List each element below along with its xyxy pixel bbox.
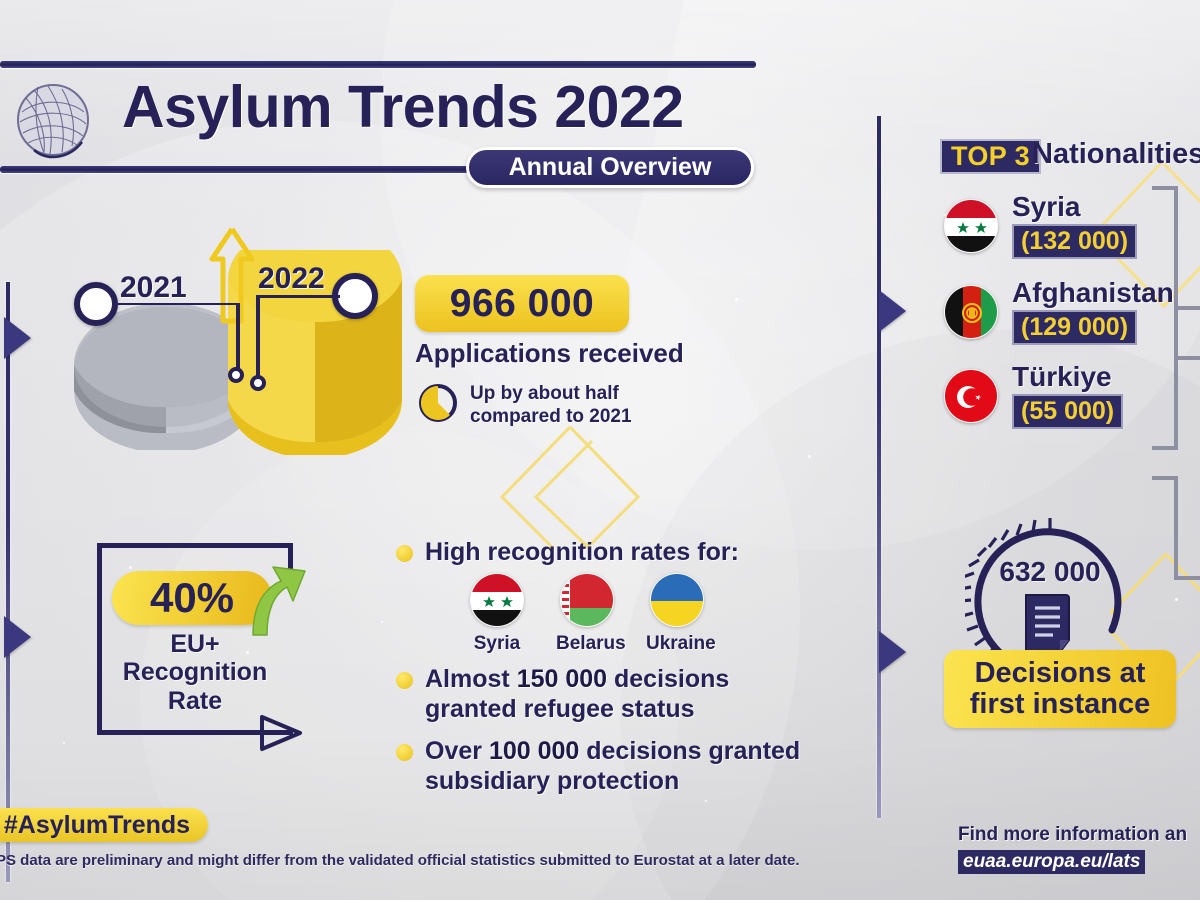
flag-item-ukraine: Ukraine (646, 573, 708, 655)
nationality-text-turkiye: Türkiye (55 000) (1012, 362, 1123, 429)
refugee-line2: granted refugee status (425, 695, 695, 723)
bullet-dot-icon (396, 545, 413, 562)
flag-caption-ukraine: Ukraine (646, 633, 708, 655)
document-icon (1022, 592, 1078, 656)
refugee-number: 150 000 (517, 665, 607, 693)
nationality-row-afghanistan: Afghanistan (129 000) (944, 278, 1174, 345)
recognition-label-line3: Rate (95, 687, 295, 715)
sparkle-dot (63, 742, 65, 744)
euaa-url-link[interactable]: euaa.europa.eu/lats (958, 850, 1145, 874)
leader-line-2022 (252, 295, 342, 405)
applications-value-pill: 966 000 (415, 275, 629, 332)
year-label-2021: 2021 (120, 271, 187, 305)
leader-dot-2022 (250, 375, 266, 391)
flag-syria-icon (944, 199, 998, 253)
center-divider-rail (877, 116, 881, 818)
sparkle-dot (735, 298, 738, 301)
nationality-text-syria: Syria (132 000) (1012, 192, 1137, 259)
high-recognition-flag-row: Syria Belarus Ukraine (466, 573, 708, 655)
subsidiary-line2: subsidiary protection (425, 767, 679, 795)
subsidiary-post: decisions granted (579, 737, 800, 765)
bullet-dot-icon (396, 672, 413, 689)
top3-badge: TOP 3 (940, 139, 1041, 174)
globe-sketch-icon (14, 76, 92, 172)
bracket-connector (1150, 178, 1200, 598)
applications-note: Up by about half compared to 2021 (470, 382, 632, 428)
find-more-text: Find more information an (958, 824, 1187, 846)
footnote-text: EPS data are preliminary and might diffe… (0, 852, 800, 869)
recognition-rate-label: EU+ Recognition Rate (95, 630, 295, 715)
bullet-subsidiary-text: Over 100 000 decisions granted subsidiar… (425, 736, 800, 796)
nationality-row-turkiye: Türkiye (55 000) (944, 362, 1123, 429)
annual-overview-badge: Annual Overview (466, 147, 754, 188)
flag-item-belarus: Belarus (556, 573, 618, 655)
recognition-label-line2: Recognition (95, 658, 295, 686)
nationality-count: (132 000) (1012, 224, 1137, 259)
bullet-refugee-text: Almost 150 000 decisions granted refugee… (425, 664, 729, 724)
bullet-high-recognition-text: High recognition rates for: (425, 537, 739, 567)
sparkle-dot (381, 621, 383, 623)
top3-heading: Nationalities (1032, 138, 1200, 171)
flag-ukraine-icon (650, 573, 704, 627)
nationality-row-syria: Syria (132 000) (944, 192, 1137, 259)
green-up-arrow-icon (243, 555, 311, 639)
applications-received-label: Applications received (415, 338, 684, 369)
outline-right-arrow-icon (258, 713, 304, 753)
decisions-label-line1: Decisions at (975, 658, 1146, 689)
subsidiary-pre: Over (425, 737, 489, 765)
bullet-high-recognition: High recognition rates for: (396, 537, 739, 567)
flag-item-syria: Syria (466, 573, 528, 655)
decisions-value: 632 000 (965, 556, 1135, 588)
flag-turkiye-icon (944, 369, 998, 423)
hashtag-badge[interactable]: #AsylumTrends (0, 808, 208, 842)
nationality-count: (129 000) (1012, 310, 1137, 345)
leader-line-2021 (116, 303, 246, 403)
chevron-right-icon (879, 631, 906, 673)
half-donut-icon (417, 382, 459, 424)
applications-comparison-chart: 2021 2022 (60, 225, 400, 460)
sparkle-dot (808, 455, 811, 458)
subsidiary-number: 100 000 (489, 737, 579, 765)
bullet-subsidiary-decisions: Over 100 000 decisions granted subsidiar… (396, 736, 800, 796)
applications-note-line2: compared to 2021 (470, 405, 632, 428)
bullet-refugee-decisions: Almost 150 000 decisions granted refugee… (396, 664, 729, 724)
nationality-name: Syria (1012, 192, 1137, 221)
refugee-pre: Almost (425, 665, 517, 693)
chevron-right-icon (4, 317, 31, 359)
nationality-text-afghanistan: Afghanistan (129 000) (1012, 278, 1174, 345)
flag-afghanistan-icon (944, 285, 998, 339)
nationality-name: Afghanistan (1012, 278, 1174, 307)
bullet-dot-icon (396, 744, 413, 761)
decisions-label-pill: Decisions at first instance (944, 650, 1176, 728)
marker-2021 (74, 282, 118, 326)
leader-dot-2021 (228, 367, 244, 383)
decisions-label-line2: first instance (970, 689, 1151, 720)
refugee-post: decisions (607, 665, 729, 693)
header-rule-top (0, 61, 756, 68)
nationality-count: (55 000) (1012, 394, 1123, 429)
page-title: Asylum Trends 2022 (122, 78, 684, 137)
nationality-name: Türkiye (1012, 362, 1123, 391)
flag-belarus-icon (560, 573, 614, 627)
sparkle-dot (705, 800, 707, 802)
flag-syria-icon (470, 573, 524, 627)
chevron-right-icon (4, 616, 31, 658)
flag-caption-belarus: Belarus (556, 633, 618, 655)
recognition-label-line1: EU+ (95, 630, 295, 658)
year-label-2022: 2022 (258, 262, 325, 296)
applications-note-line1: Up by about half (470, 382, 632, 405)
frame-edge (97, 543, 293, 548)
flag-caption-syria: Syria (466, 633, 528, 655)
left-rail (6, 282, 10, 882)
chevron-right-icon (879, 290, 906, 332)
